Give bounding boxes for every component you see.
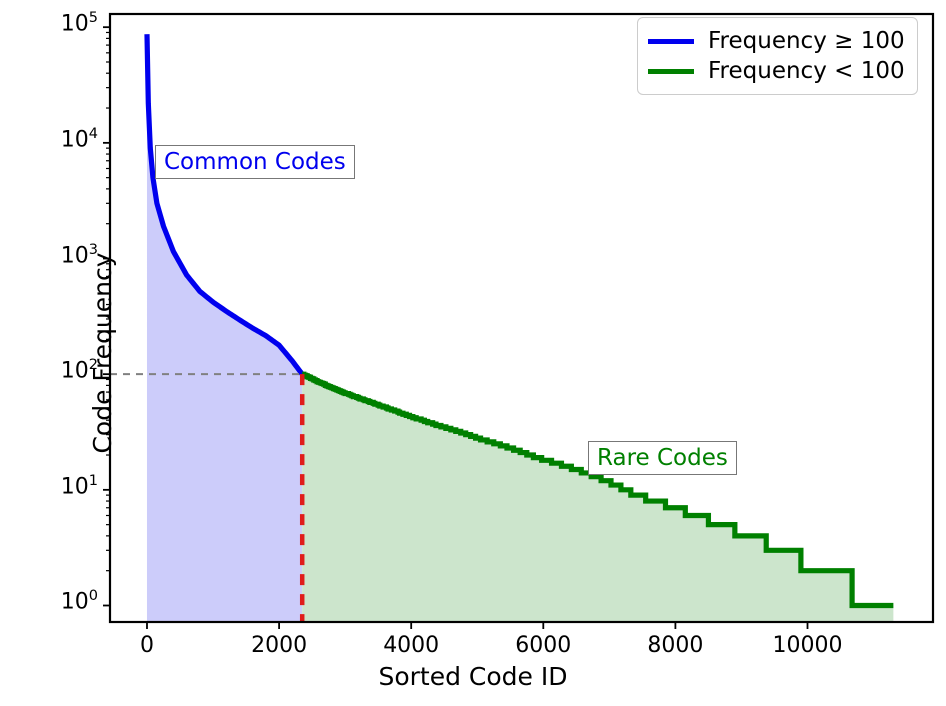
x-tick-label: 10000 bbox=[748, 633, 868, 658]
x-tick-label: 6000 bbox=[483, 633, 603, 658]
y-tick-label: 105 bbox=[0, 10, 98, 36]
y-tick-label: 104 bbox=[0, 126, 98, 152]
y-tick-label: 102 bbox=[0, 357, 98, 383]
legend-swatch-common bbox=[648, 39, 694, 44]
legend-label-common: Frequency ≥ 100 bbox=[708, 28, 905, 54]
x-tick-label: 4000 bbox=[351, 633, 471, 658]
x-tick-label: 2000 bbox=[219, 633, 339, 658]
legend-label-rare: Frequency < 100 bbox=[708, 58, 905, 84]
y-axis-label: Code Frequency bbox=[88, 252, 117, 453]
x-tick-label: 8000 bbox=[615, 633, 735, 658]
legend-swatch-rare bbox=[648, 69, 694, 74]
chart-legend: Frequency ≥ 100 Frequency < 100 bbox=[637, 17, 918, 95]
y-tick-label: 101 bbox=[0, 473, 98, 499]
y-tick-label: 100 bbox=[0, 588, 98, 614]
chart-figure: Code Frequency Sorted Code ID 0200040006… bbox=[0, 0, 946, 706]
annotation-rare-codes: Rare Codes bbox=[588, 441, 737, 475]
x-axis-label: Sorted Code ID bbox=[0, 662, 946, 691]
y-tick-label: 103 bbox=[0, 242, 98, 268]
legend-entry-rare: Frequency < 100 bbox=[648, 56, 905, 86]
plot-canvas bbox=[0, 0, 946, 706]
legend-entry-common: Frequency ≥ 100 bbox=[648, 26, 905, 56]
x-tick-label: 0 bbox=[87, 633, 207, 658]
annotation-common-codes: Common Codes bbox=[155, 145, 355, 179]
